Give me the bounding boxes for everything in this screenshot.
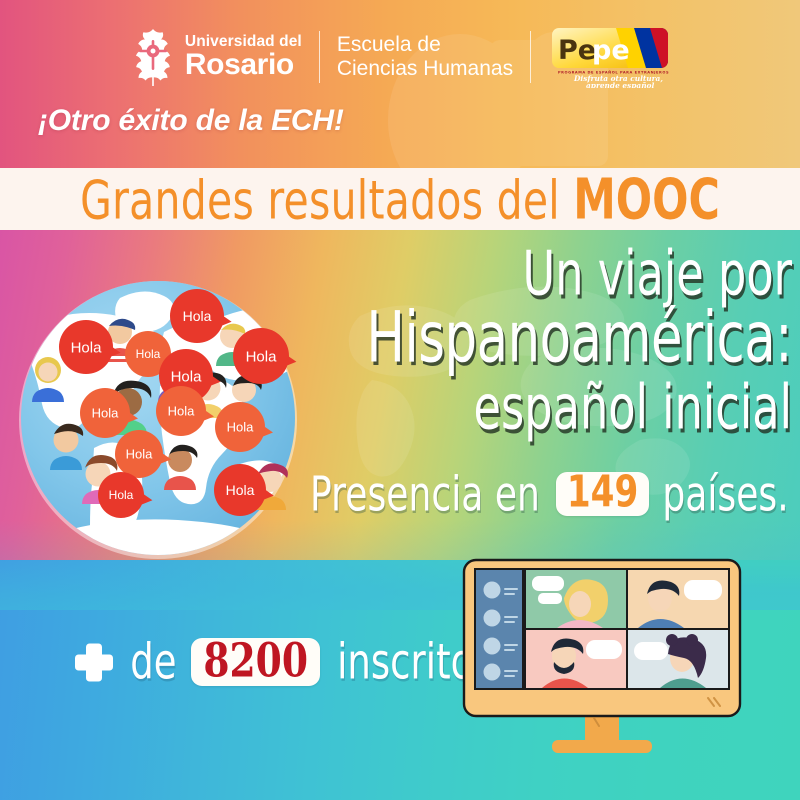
course-title: Un viaje por Hispanoamérica: español ini…	[300, 252, 792, 432]
stat-countries-badge: 149	[556, 472, 649, 516]
video-tile-bottom-right	[628, 630, 728, 688]
stat-enrolled-prefix: de	[130, 634, 176, 691]
stat-enrolled-value: 8200	[203, 635, 308, 687]
main-title-mooc: MOOC	[573, 165, 720, 231]
video-conference-illustration	[452, 552, 752, 767]
header-logo-bar: Universidad del Rosario Escuela de Cienc…	[0, 24, 800, 90]
hola-bubble-label: Hola	[227, 420, 255, 435]
hola-bubble-label: Hola	[126, 447, 154, 462]
main-title: Grandes resultados del MOOC	[80, 170, 720, 227]
hola-bubble-label: Hola	[171, 368, 203, 385]
header-tagline: ¡Otro éxito de la ECH!	[38, 104, 344, 138]
stat-countries-suffix: países.	[662, 466, 788, 521]
stat-countries: Presencia en 149 países.	[300, 472, 792, 516]
world-globe-illustration: HolaHolaHolaHolaHolaHolaHolaHolaHolaHola…	[8, 268, 308, 568]
faculty-line1: Escuela de	[337, 33, 513, 57]
rosario-crest-icon	[130, 28, 176, 86]
faculty-line2: Ciencias Humanas	[337, 57, 513, 81]
title-band: Grandes resultados del MOOC	[0, 168, 800, 230]
hola-bubble-label: Hola	[71, 339, 103, 356]
course-title-line3: español inicial	[325, 379, 792, 438]
stat-enrolled: de 8200 inscritos	[72, 638, 497, 686]
stat-countries-prefix: Presencia en	[310, 466, 540, 521]
svg-text:aprende español: aprende español	[586, 81, 654, 88]
stat-enrolled-badge: 8200	[191, 638, 320, 686]
poster-canvas: Universidad del Rosario Escuela de Cienc…	[0, 0, 800, 800]
stat-countries-value: 149	[567, 469, 638, 518]
hola-bubble-label: Hola	[92, 406, 120, 421]
hola-bubble-label: Hola	[183, 308, 212, 324]
hola-bubble-label: Hola	[109, 488, 134, 502]
course-title-line2: Hispanoamérica:	[325, 304, 792, 372]
pepe-program-logo: Pe pe PROGRAMA DE ESPAÑOL PARA EXTRANJER…	[550, 26, 670, 88]
monitor-stand-base	[552, 740, 652, 753]
universidad-rosario-logo: Universidad del Rosario	[130, 28, 302, 86]
video-tile-top-left	[526, 570, 626, 628]
video-participant-sidebar	[476, 570, 522, 688]
hola-bubble-label: Hola	[136, 347, 161, 361]
pepe-logo-icon: Pe pe PROGRAMA DE ESPAÑOL PARA EXTRANJER…	[550, 26, 670, 88]
svg-text:Pe: Pe	[558, 35, 596, 66]
hola-bubble-label: Hola	[246, 348, 278, 365]
logo-divider-1	[319, 31, 320, 83]
faculty-name: Escuela de Ciencias Humanas	[337, 33, 513, 82]
video-tile-top-right	[628, 570, 728, 628]
svg-text:pe: pe	[592, 35, 630, 66]
hola-bubble-label: Hola	[168, 404, 196, 419]
main-title-regular: Grandes resultados del	[80, 169, 573, 231]
university-line2: Rosario	[185, 50, 302, 80]
video-tile-bottom-left	[526, 630, 626, 688]
plus-icon	[72, 640, 116, 684]
hola-bubble-label: Hola	[226, 482, 255, 498]
universidad-rosario-wordmark: Universidad del Rosario	[185, 34, 302, 81]
logo-divider-2	[530, 31, 531, 83]
university-line1: Universidad del	[185, 34, 302, 50]
